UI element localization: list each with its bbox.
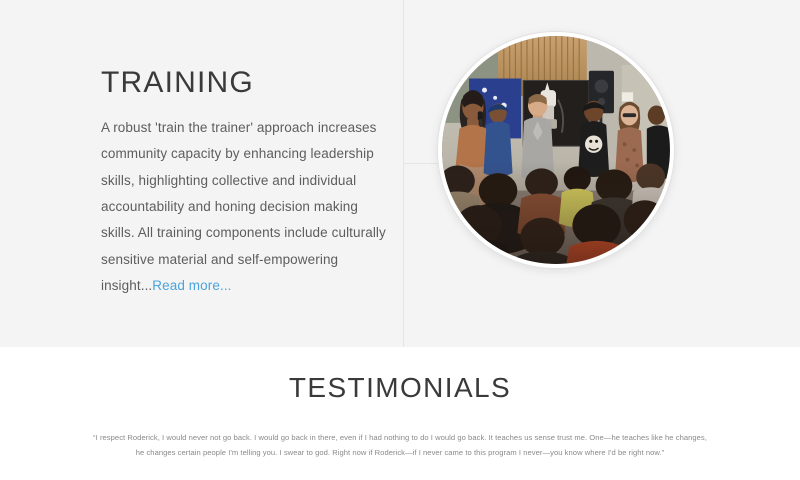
- training-body-paragraph: A robust 'train the trainer' approach in…: [101, 120, 386, 293]
- training-photo-frame: Think: [442, 36, 670, 264]
- testimonials-section: TESTIMONIALS “I respect Roderick, I woul…: [0, 347, 800, 480]
- training-photo[interactable]: Think: [438, 32, 674, 268]
- vertical-divider: [403, 0, 404, 347]
- training-body-text: A robust 'train the trainer' approach in…: [101, 115, 386, 299]
- training-heading: TRAINING: [101, 66, 386, 99]
- training-copy-block: TRAINING A robust 'train the trainer' ap…: [101, 66, 386, 299]
- read-more-link[interactable]: Read more...: [152, 278, 231, 293]
- landing-page: TRAINING A robust 'train the trainer' ap…: [0, 0, 800, 480]
- training-photo-image: Think: [442, 36, 670, 264]
- testimonial-quote: “I respect Roderick, I would never not g…: [93, 430, 707, 460]
- testimonials-heading: TESTIMONIALS: [0, 373, 800, 404]
- training-section: TRAINING A robust 'train the trainer' ap…: [0, 0, 800, 347]
